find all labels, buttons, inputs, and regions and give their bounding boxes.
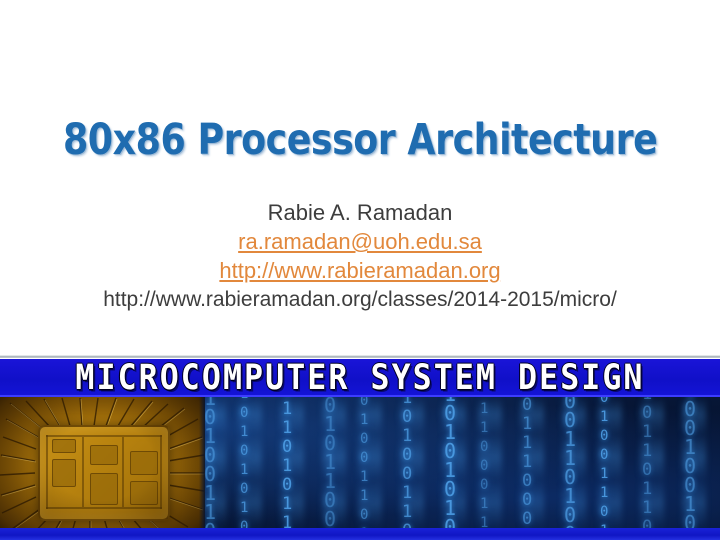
binary-column: 0 1 0 0 1 1 0 1 0 0 [600, 397, 609, 540]
footer-bottom-bar [0, 528, 720, 540]
binary-column: 1 0 1 0 0 1 1 0 1 0 [402, 397, 413, 540]
course-banner-title: MICROCOMPUTER SYSTEM DESIGN [75, 359, 644, 397]
binary-column: 1 1 1 0 1 0 1 1 1 0 [282, 397, 293, 540]
title-area: 80x86 Processor Architecture [0, 118, 720, 163]
binary-column: 1 0 1 0 0 1 1 0 1 0 [360, 397, 369, 540]
email-link[interactable]: ra.ramadan@uoh.edu.sa [0, 227, 720, 256]
binary-column: 1 0 0 1 0 0 1 0 0 1 [684, 397, 697, 540]
course-banner-inner: MICROCOMPUTER SYSTEM DESIGN [0, 359, 720, 397]
course-banner: MICROCOMPUTER SYSTEM DESIGN [0, 359, 720, 397]
author-name: Rabie A. Ramadan [0, 198, 720, 227]
chip-right-edge [199, 397, 205, 540]
microprocessor-die-photo [0, 397, 205, 540]
course-url-text: http://www.rabieramadan.org/classes/2014… [0, 285, 720, 314]
page-title: 80x86 Processor Architecture [63, 118, 657, 163]
subtitle-block: Rabie A. Ramadan ra.ramadan@uoh.edu.sa h… [0, 198, 720, 314]
chip-vignette [0, 397, 205, 540]
binary-column: 1 1 1 0 0 0 1 1 1 0 [480, 397, 489, 540]
footer-image: 1 0 0 1 0 1 1 0 0 11 1 0 0 1 0 1 1 0 01 … [0, 397, 720, 540]
binary-column: 1 0 1 0 1 0 1 0 1 0 [240, 397, 249, 540]
horizontal-divider [0, 355, 720, 358]
website-link[interactable]: http://www.rabieramadan.org [0, 256, 720, 285]
binary-column: 1 0 1 0 0 1 1 0 1 0 [204, 397, 217, 540]
binary-column: 0 0 1 1 1 0 0 0 1 1 [522, 397, 533, 540]
binary-column: 1 0 1 1 0 1 1 0 1 1 [642, 397, 653, 540]
binary-column: 1 0 0 1 1 0 1 0 0 1 [564, 397, 577, 540]
presentation-slide: 80x86 Processor Architecture Rabie A. Ra… [0, 0, 720, 540]
binary-column: 0 0 1 0 1 1 0 0 1 0 [324, 397, 337, 540]
binary-column: 1 0 1 0 1 0 1 0 1 0 [444, 397, 457, 540]
